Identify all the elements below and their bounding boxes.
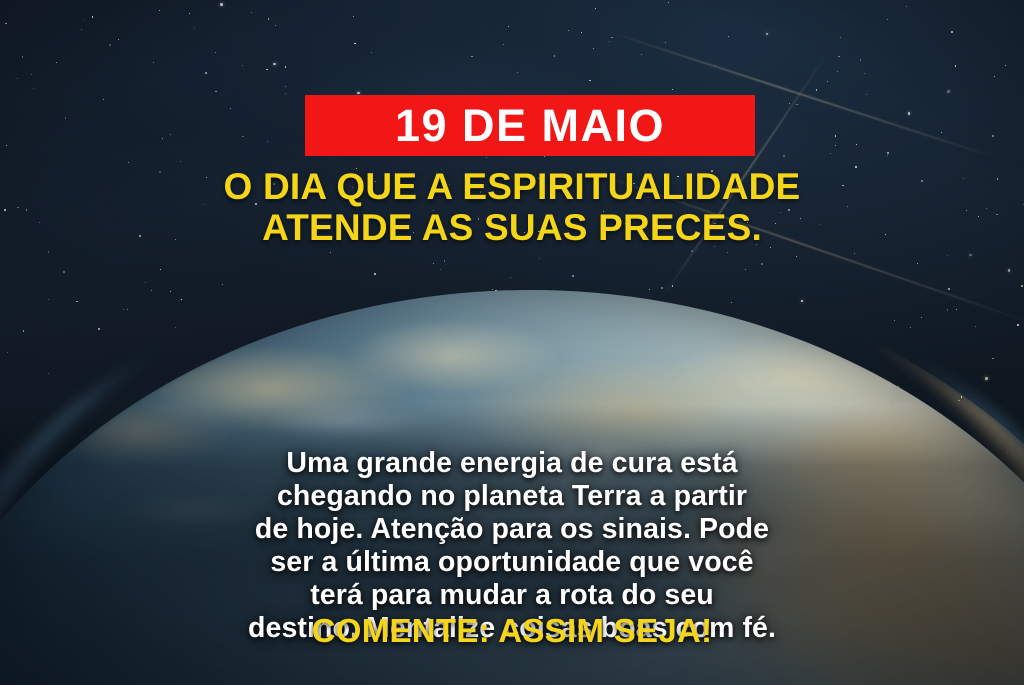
call-to-action-text: COMENTE: ASSIM SEJA!: [312, 612, 713, 649]
call-to-action: COMENTE: ASSIM SEJA!: [0, 613, 1024, 649]
date-banner: 19 DE MAIO: [305, 95, 755, 156]
poster-canvas: 19 DE MAIO O DIA QUE A ESPIRITUALIDADE A…: [0, 0, 1024, 685]
body-copy-line-1: Uma grande energia de cura está: [50, 447, 974, 480]
body-copy-line-5: terá para mudar a rota do seu: [50, 579, 974, 612]
body-copy-line-3: de hoje. Atenção para os sinais. Pode: [50, 513, 974, 546]
body-copy-line-2: chegando no planeta Terra a partir: [50, 480, 974, 513]
headline: O DIA QUE A ESPIRITUALIDADE ATENDE AS SU…: [0, 166, 1024, 249]
headline-line-1: O DIA QUE A ESPIRITUALIDADE: [0, 166, 1024, 207]
poster-content: 19 DE MAIO O DIA QUE A ESPIRITUALIDADE A…: [0, 0, 1024, 685]
date-banner-text: 19 DE MAIO: [395, 103, 665, 148]
headline-line-2: ATENDE AS SUAS PRECES.: [0, 207, 1024, 248]
body-copy-line-4: ser a última oportunidade que você: [50, 546, 974, 579]
